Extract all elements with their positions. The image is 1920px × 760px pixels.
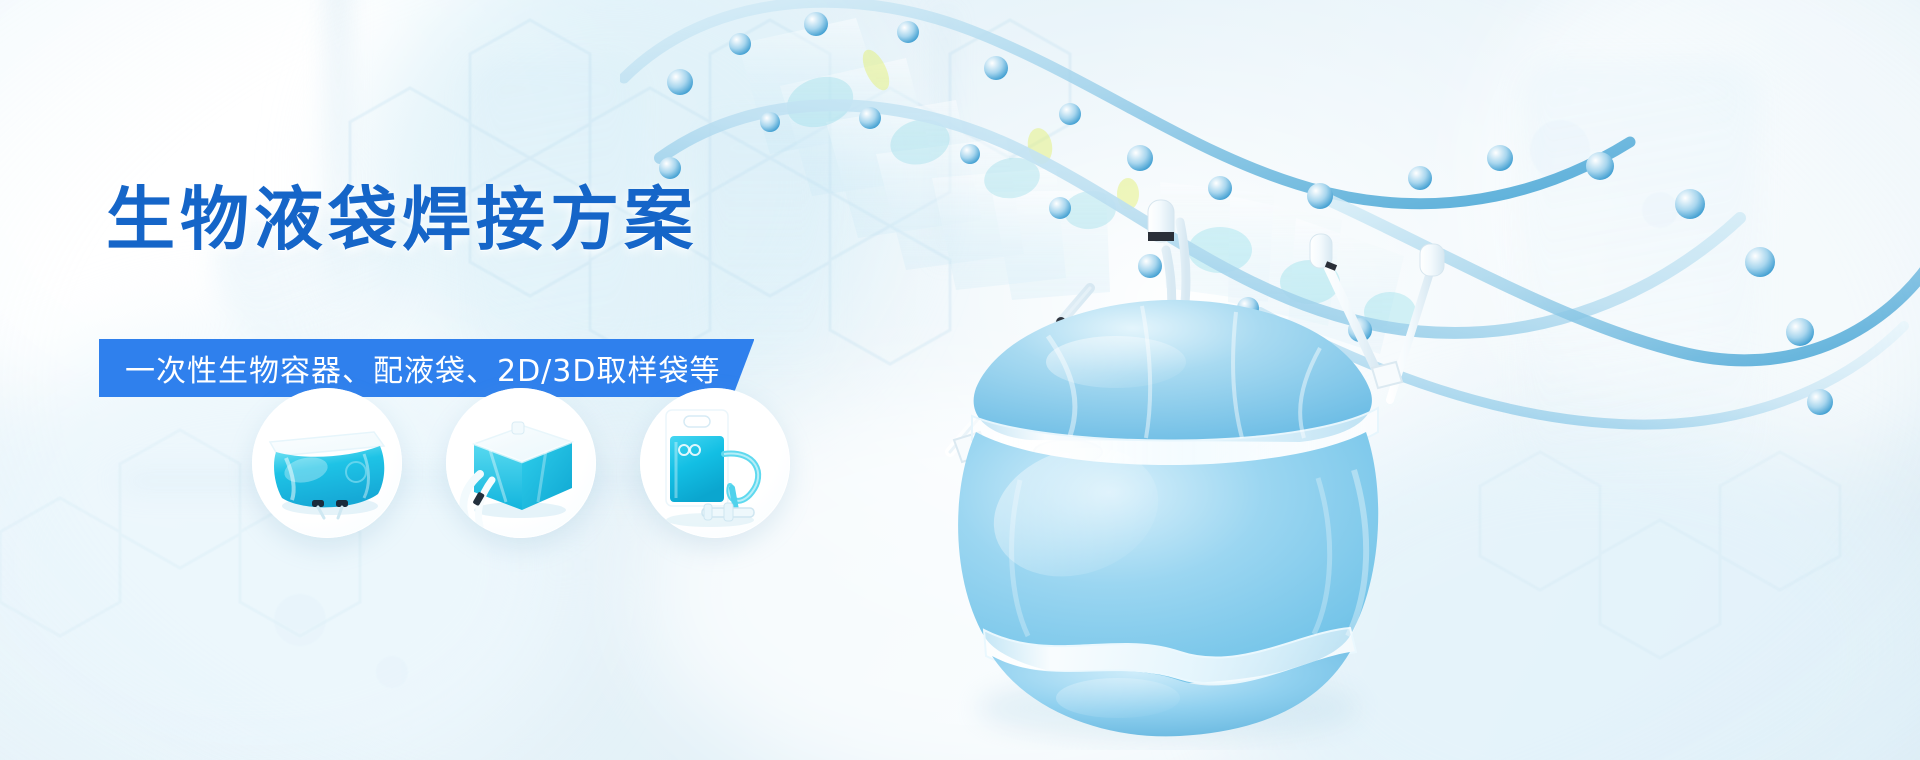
page-title: 生物液袋焊接方案 — [106, 186, 698, 255]
hero-banner: 生物液袋焊接方案 一次性生物容器、配液袋、2D/3D取样袋等 — [0, 0, 1920, 760]
cube-liquid-bag-icon — [446, 388, 596, 538]
flat-liquid-bag-icon — [252, 388, 402, 538]
product-thumb-cube-liquid-bag[interactable] — [446, 388, 596, 538]
sampling-bag-with-tubing-icon — [640, 388, 790, 538]
product-thumbnail-row — [252, 388, 832, 548]
subtitle-text: 一次性生物容器、配液袋、2D/3D取样袋等 — [125, 346, 720, 390]
product-thumb-sampling-bag[interactable] — [640, 388, 790, 538]
product-thumb-flat-liquid-bag[interactable] — [252, 388, 402, 538]
